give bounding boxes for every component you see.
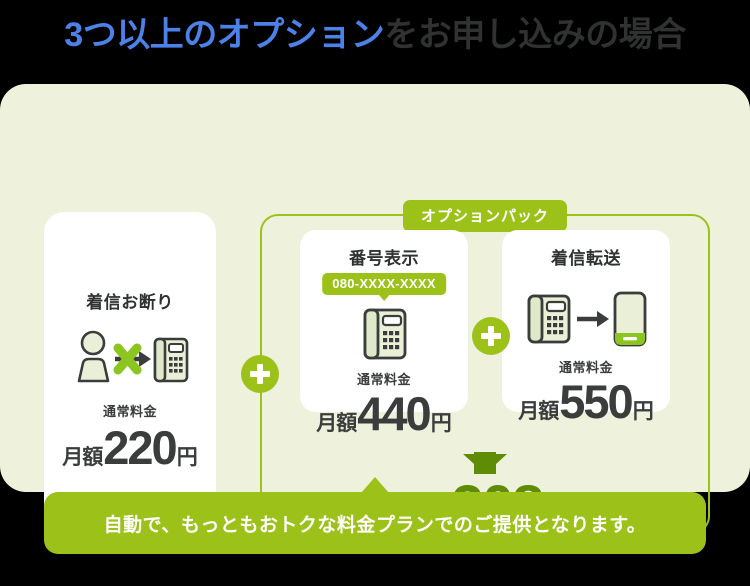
info-banner-text: 自動で、もっともおトクな料金プランでのご提供となります。 (104, 510, 647, 537)
phone-number-bubble: 080-XXXX-XXXX (322, 273, 446, 295)
price-amount: 550 (559, 378, 631, 425)
option-card-price: 月額 550 円 (502, 378, 670, 425)
page-title: 3つ以上のオプションをお申し込みの場合 (0, 0, 750, 62)
phone-to-smartphone-icon (502, 285, 670, 351)
option-card-call-forwarding[interactable]: 着信転送 通常料金 (502, 230, 670, 412)
option-card-fee-label: 通常料金 (300, 369, 468, 388)
desk-phone-icon (300, 301, 468, 363)
option-card-title: 着信お断り (44, 288, 216, 313)
option-card-title: 番号表示 (300, 244, 468, 269)
option-card-fee-label: 通常料金 (44, 401, 216, 420)
price-prefix: 月額 (316, 413, 356, 434)
plus-icon-between-options (472, 317, 510, 355)
option-card-price: 月額 220 円 (44, 424, 216, 471)
option-card-caller-id[interactable]: 番号表示 080-XXXX-XXXX 通常料金 月額 440 円 (300, 230, 468, 412)
down-arrow-icon (463, 454, 507, 474)
page-title-plain: をお申し込みの場合 (384, 7, 686, 56)
option-pack-badge: オプションパック (403, 200, 567, 232)
price-unit: 円 (177, 447, 198, 468)
banner-pointer-icon (361, 477, 389, 493)
price-unit: 円 (431, 413, 452, 434)
price-amount: 440 (357, 390, 429, 437)
option-card-fee-label: 通常料金 (502, 357, 670, 376)
price-prefix: 月額 (518, 401, 558, 422)
option-card-call-blocking[interactable]: 着信お断り (44, 212, 216, 534)
result-arrow (262, 454, 708, 474)
page-title-accent: 3つ以上のオプション (64, 7, 384, 56)
price-prefix: 月額 (62, 447, 102, 468)
price-unit: 円 (633, 401, 654, 422)
option-card-title: 着信転送 (502, 244, 670, 269)
option-card-price: 月額 440 円 (300, 390, 468, 437)
price-amount: 220 (103, 424, 175, 471)
info-banner: 自動で、もっともおトクな料金プランでのご提供となります。 (44, 492, 706, 554)
person-blocked-phone-icon (44, 327, 216, 389)
content-panel: オプションパック 月額 308 円 着信お断り (0, 84, 750, 492)
plus-icon-base-to-pack (241, 355, 279, 393)
